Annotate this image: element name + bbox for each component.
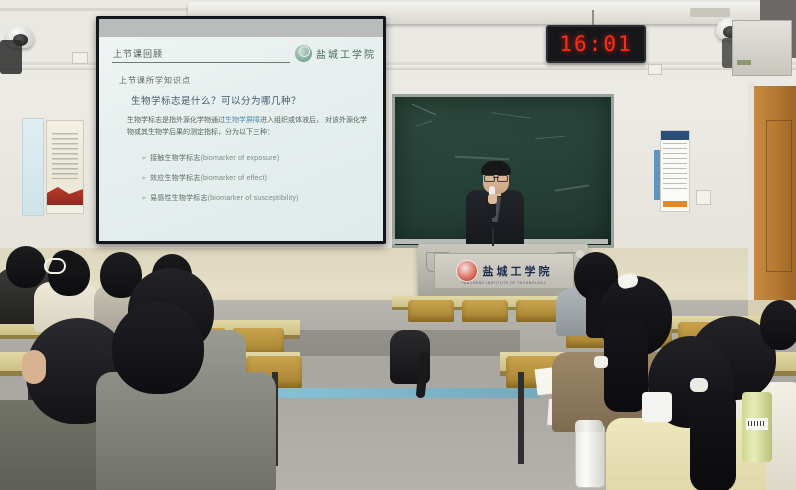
slide-bullet-exposure: ➢接触生物学标志(biomarker of exposure): [141, 153, 279, 163]
bullet-en: (biomarker of susceptibility): [208, 195, 299, 202]
door-panel: [766, 120, 792, 272]
wall-equipment-cabinet: [732, 20, 792, 76]
desk-leg: [518, 372, 524, 464]
slide-paragraph: 生物学标志是指外源化学物通过生物学屏障进入组织或体液后， 对该外源化学物或其生物…: [127, 115, 371, 139]
bullet-cn: 易感性生物学标志: [150, 195, 208, 202]
student-head: [760, 300, 796, 350]
slide-subtitle: 上节课所学知识点: [119, 75, 191, 86]
roller-end-cap: [690, 8, 730, 17]
notice-header: [661, 131, 689, 140]
wall-outlet[interactable]: [72, 52, 88, 64]
teacher-hair: [481, 161, 511, 175]
slide-bullet-susceptibility: ➢易感性生物学标志(biomarker of susceptibility): [141, 193, 299, 203]
bullet-arrow-icon: ➢: [141, 175, 147, 182]
paragraph-highlight: 生物学屏障: [225, 117, 260, 124]
student-ponytail: [690, 388, 736, 490]
podium-name-plate: 盐城工学院 YANCHENG INSTITUTE OF TECHNOLOGY: [434, 253, 574, 289]
student-head: [6, 246, 46, 288]
chalk-smudge: [491, 112, 531, 119]
bullet-arrow-icon: ➢: [141, 195, 147, 202]
student-torso: [96, 372, 276, 490]
paragraph-part-1: 生物学标志是指外源化学物通过: [127, 117, 225, 124]
university-emblem-icon: [456, 260, 478, 282]
bullet-en: (biomarker of exposure): [200, 155, 279, 162]
right-wall-notice-board: [660, 130, 690, 212]
left-wall-poster-blue: [22, 118, 44, 216]
left-wall-calligraphy-poster: [46, 120, 84, 214]
thermos-cap: [575, 420, 603, 432]
mic-stand: [492, 228, 494, 246]
classroom-photo: 上节课回顾 盐城工学院 上节课所学知识点 生物学标志是什么？可以分为哪几种？ 生…: [0, 0, 796, 490]
slide-title-rule: [112, 62, 290, 63]
led-wall-clock: 16:01: [546, 25, 646, 63]
notice-table-grid: [663, 143, 687, 193]
chalk-smudge: [455, 156, 509, 161]
bullet-arrow-icon: ➢: [141, 155, 147, 162]
student-ear: [22, 350, 46, 384]
slide-logo-text: 盐城工学院: [316, 46, 376, 61]
hair-tie-icon: [594, 356, 608, 368]
slide-bullet-effect: ➢效应生物学标志(biomarker of effect): [141, 173, 267, 183]
bottle-label-text: [748, 421, 766, 426]
university-emblem-icon: [295, 45, 312, 62]
paragraph-part-1b: 进入组织或体液后，: [260, 117, 323, 124]
student-head: [112, 302, 204, 394]
clock-time: 16:01: [559, 32, 632, 56]
teacher-hand: [488, 194, 497, 204]
light-switch[interactable]: [696, 190, 711, 205]
hair-tie-icon: [690, 378, 708, 392]
cabinet-label: [737, 60, 751, 65]
chalk-smudge: [535, 136, 565, 140]
poster-text-lines: [52, 133, 78, 179]
face-mask: [642, 392, 672, 422]
seat: [462, 300, 508, 322]
presentation-slide: 上节课回顾 盐城工学院 上节课所学知识点 生物学标志是什么？可以分为哪几种？ 生…: [99, 37, 383, 241]
chalk-smudge: [412, 104, 436, 115]
slide-question: 生物学标志是什么？可以分为哪几种？: [131, 93, 301, 107]
wall-outlet[interactable]: [648, 64, 662, 75]
poster-red-wave: [47, 185, 83, 205]
hair-clip-icon: [44, 258, 66, 274]
podium-university-name-cn: 盐城工学院: [483, 263, 553, 279]
teacher-glasses-icon: [484, 175, 508, 180]
bullet-en: (biomarker of effect): [200, 175, 267, 182]
thermos-bottle: [575, 424, 605, 488]
chalk-smudge: [555, 184, 589, 191]
notice-footer-bar: [663, 201, 687, 207]
slide-title: 上节课回顾: [113, 47, 163, 60]
clock-cord: [592, 10, 594, 26]
screen-top-band: [99, 19, 383, 37]
wall-speaker-left: [0, 40, 22, 74]
chalk-smudge: [415, 120, 432, 127]
seat: [408, 300, 454, 322]
glasses-lens-right: [497, 175, 508, 182]
bullet-cn: 接触生物学标志: [150, 155, 200, 162]
bullet-cn: 效应生物学标志: [150, 175, 200, 182]
podium-university-name-en: YANCHENG INSTITUTE OF TECHNOLOGY: [461, 281, 546, 285]
slide-university-logo: 盐城工学院: [295, 42, 379, 64]
